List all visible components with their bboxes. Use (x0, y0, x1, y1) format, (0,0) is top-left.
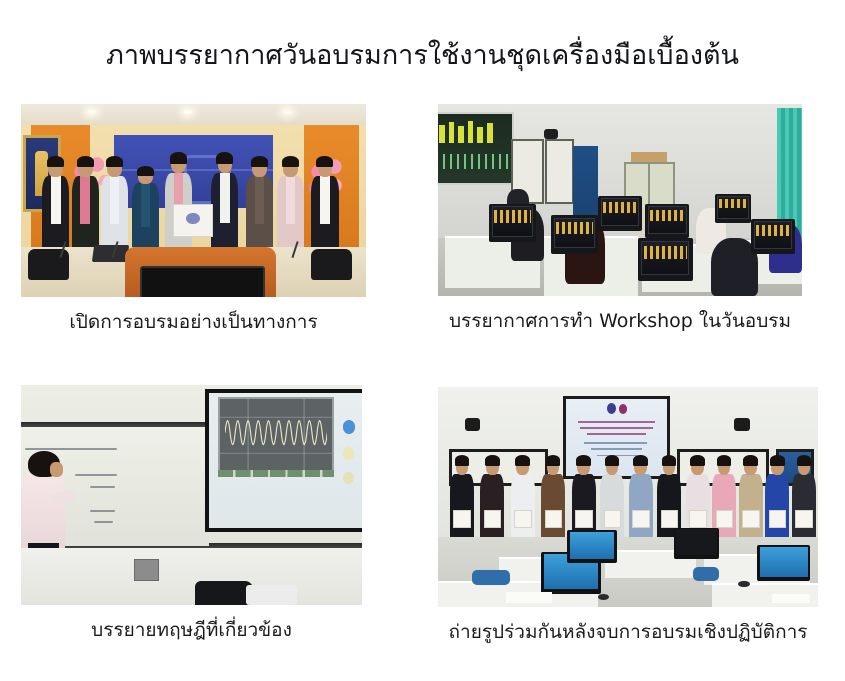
attendee (42, 158, 70, 251)
waveform-trace (438, 154, 509, 169)
attendee (276, 158, 304, 251)
projection-screen-frame (205, 389, 362, 532)
ceremony-scene (21, 104, 366, 297)
partner-seal (619, 404, 627, 413)
group-photo-scene (438, 387, 818, 607)
sine-waveform (225, 409, 327, 456)
equipment-bag (195, 581, 253, 605)
indicator-dot (343, 420, 355, 434)
screen-title-line (587, 433, 645, 435)
screen-title-line (578, 421, 654, 423)
workshop-scene (438, 104, 802, 296)
screen-title-line (580, 427, 652, 429)
office-chair (311, 249, 352, 280)
lab-monitor (638, 238, 693, 280)
caption-workshop: บรรยากาศการทำ Workshop ในวันอบรม (438, 308, 802, 334)
oscilloscope-display (218, 397, 333, 473)
projection-screen (438, 112, 514, 185)
ceiling-light (87, 110, 96, 114)
recipient (211, 154, 239, 251)
whiteboard-writing (75, 474, 117, 476)
lab-monitor (598, 196, 642, 231)
screen-body-line (591, 448, 641, 450)
wall-speaker (734, 418, 749, 431)
storage-box (631, 152, 667, 162)
lecture-scene (21, 385, 362, 605)
photo-gallery: เปิดการอบรมอย่างเป็นทางการ (0, 0, 845, 681)
podium-display (140, 266, 265, 297)
photo-opening-ceremony[interactable] (21, 104, 366, 297)
caption-opening-ceremony: เปิดการอบรมอย่างเป็นทางการ (21, 309, 366, 335)
lecturer-shirt (21, 473, 65, 550)
wall-outlet (134, 559, 160, 581)
oscilloscope-toolbar (218, 470, 333, 477)
student-chair (693, 567, 720, 580)
photo-workshop[interactable] (438, 104, 802, 296)
desktop-monitor (757, 545, 810, 580)
student-chair (472, 570, 510, 585)
lab-monitor (751, 219, 795, 254)
attendee (131, 168, 159, 251)
paper-sheet (772, 594, 810, 603)
attendee (311, 158, 339, 251)
whiteboard-writing (90, 486, 115, 488)
projector-unit (246, 585, 297, 605)
ceiling-light (183, 110, 192, 114)
podium (125, 247, 277, 297)
caption-theory-lecture: บรรยายทฤษฎีที่เกี่ยวข้อง (21, 617, 362, 643)
indicator-dot (343, 447, 354, 459)
gallery-item-theory-lecture[interactable]: บรรยายทฤษฎีที่เกี่ยวข้อง (21, 385, 362, 650)
attendee (245, 158, 273, 251)
ceiling (21, 104, 366, 127)
whiteboard-writing (90, 510, 115, 512)
laptop (92, 245, 129, 262)
attendee (71, 158, 99, 251)
gallery-item-group-certificates[interactable]: ถ่ายรูปร่วมกันหลังจบการอบรมเชิงปฏิบัติกา… (438, 387, 818, 652)
indicator-dot (343, 472, 354, 484)
ceiling-light (283, 110, 292, 114)
caption-group-certificates: ถ่ายรูปร่วมกันหลังจบการอบรมเชิงปฏิบัติกา… (438, 619, 818, 645)
lab-monitor (489, 204, 536, 242)
certificate-document (173, 204, 213, 237)
gallery-item-workshop[interactable]: บรรยากาศการทำ Workshop ในวันอบรม (438, 104, 802, 344)
wall-speaker (544, 129, 559, 139)
whiteboard-writing (94, 521, 113, 523)
lab-monitor (551, 215, 598, 253)
projection-screen (209, 393, 362, 528)
paper-sheet (506, 592, 552, 603)
office-chair (28, 249, 69, 280)
wall-speaker (465, 418, 480, 431)
desktop-monitor (567, 530, 616, 563)
whiteboard-writing (25, 448, 117, 450)
lecturer-face (50, 462, 64, 477)
window-panel (545, 139, 574, 204)
photo-group-certificates[interactable] (438, 387, 818, 607)
lab-monitor (715, 194, 751, 223)
gallery-item-opening-ceremony[interactable]: เปิดการอบรมอย่างเป็นทางการ (21, 104, 366, 344)
photo-theory-lecture[interactable] (21, 385, 362, 605)
attendee (100, 158, 128, 251)
lab-monitor (645, 204, 689, 239)
desktop-monitor (674, 528, 720, 559)
screen-body-line (584, 442, 646, 444)
university-seal (607, 403, 616, 414)
computer-mouse (738, 581, 749, 588)
lower-wall (21, 548, 362, 605)
